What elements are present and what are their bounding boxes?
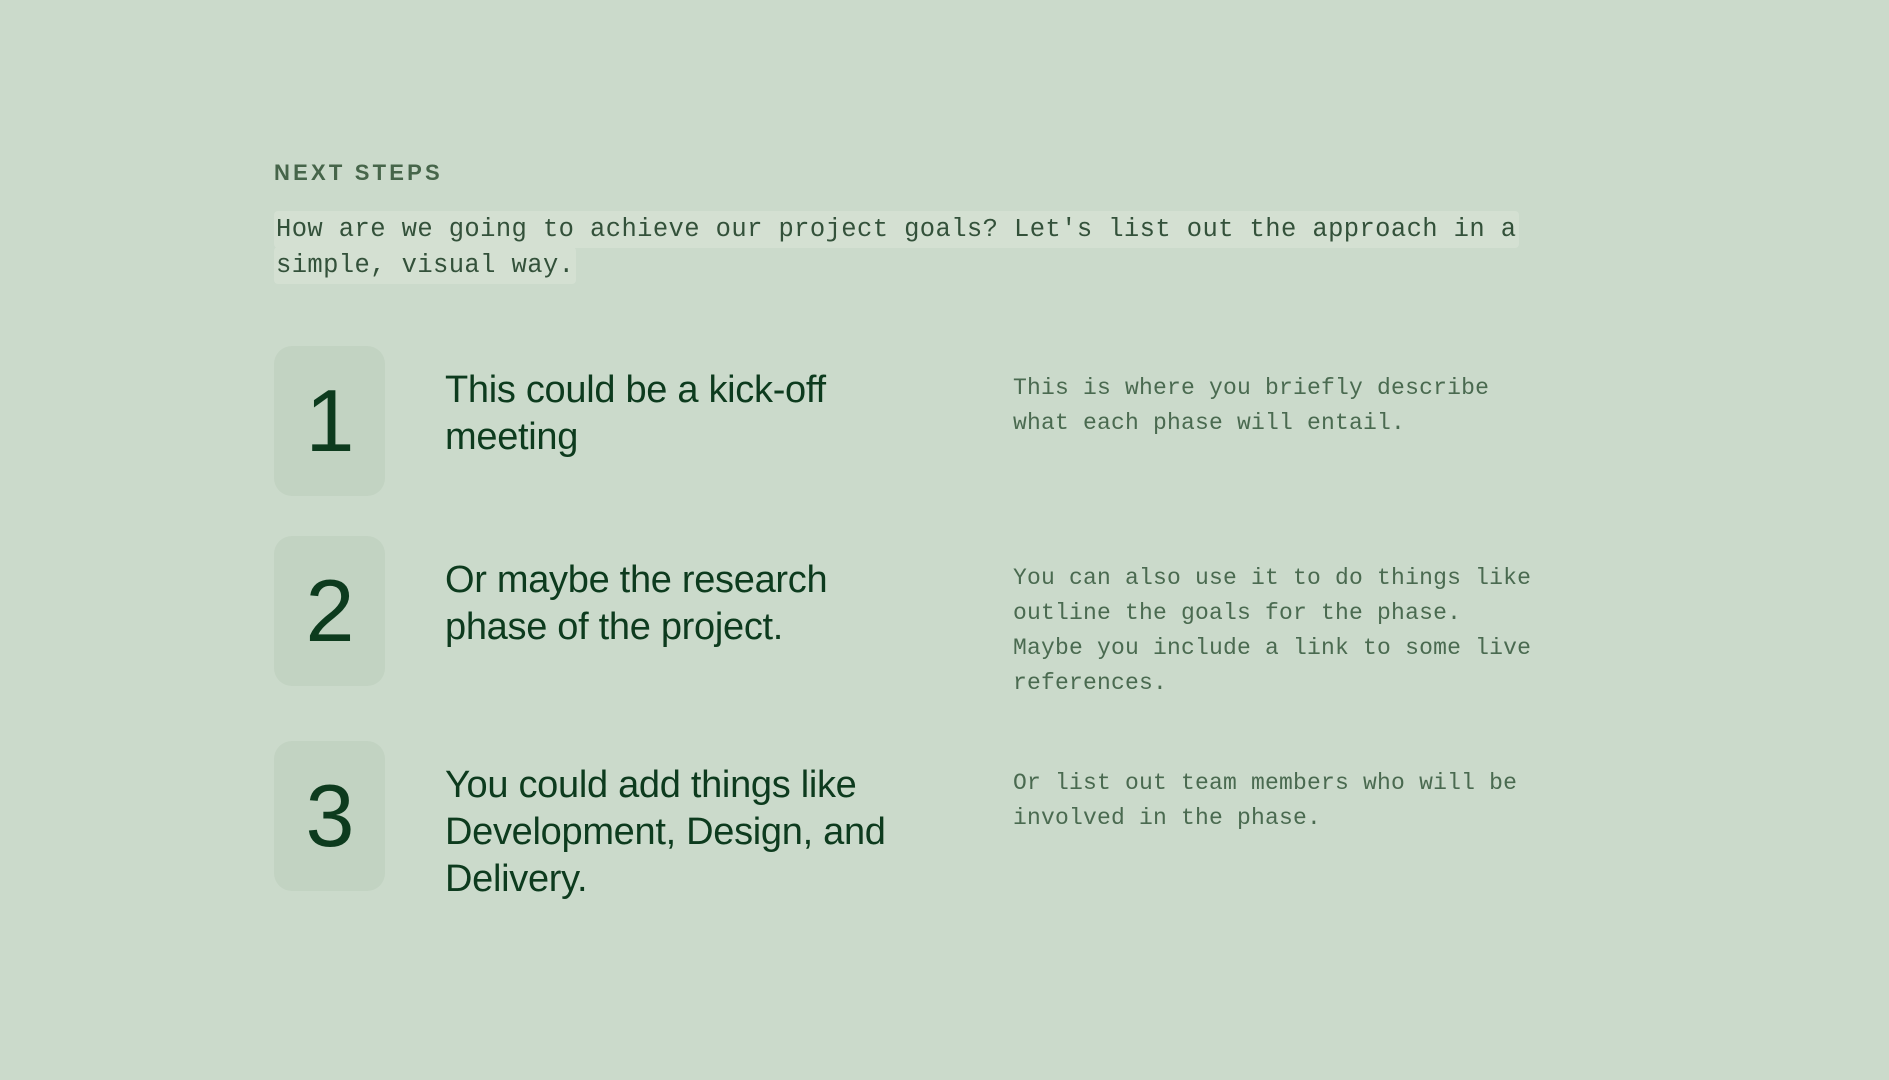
step-number-badge: 1 — [274, 346, 385, 496]
step-heading: This could be a kick-off meeting — [445, 346, 915, 461]
step-description: This is where you briefly describe what … — [1013, 346, 1543, 441]
slide-canvas: NEXT STEPS How are we going to achieve o… — [0, 0, 1889, 1080]
step-description: You can also use it to do things like ou… — [1013, 536, 1543, 701]
section-eyebrow-label: NEXT STEPS — [274, 160, 1654, 186]
subtitle-text: How are we going to achieve our project … — [274, 211, 1519, 284]
step-number: 1 — [306, 377, 354, 465]
subtitle-container: How are we going to achieve our project … — [274, 212, 1564, 284]
step-number: 2 — [306, 567, 354, 655]
step-heading: Or maybe the research phase of the proje… — [445, 536, 915, 651]
step-number-badge: 2 — [274, 536, 385, 686]
step-number-badge: 3 — [274, 741, 385, 891]
slide-content: NEXT STEPS How are we going to achieve o… — [274, 160, 1654, 903]
step-description: Or list out team members who will be inv… — [1013, 741, 1543, 836]
step-item: 1 This could be a kick-off meeting This … — [274, 346, 1654, 496]
steps-list: 1 This could be a kick-off meeting This … — [274, 346, 1654, 903]
step-heading: You could add things like Development, D… — [445, 741, 915, 903]
step-item: 2 Or maybe the research phase of the pro… — [274, 536, 1654, 701]
step-number: 3 — [306, 772, 354, 860]
step-item: 3 You could add things like Development,… — [274, 741, 1654, 903]
